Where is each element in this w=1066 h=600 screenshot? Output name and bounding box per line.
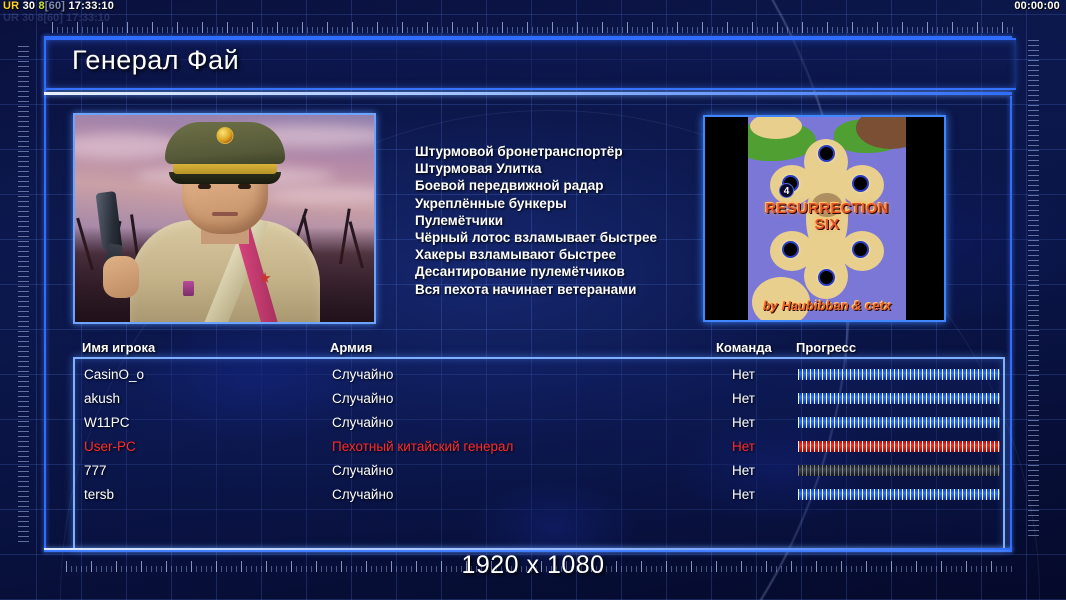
table-row[interactable]: W11PC Случайно Нет [75,411,1003,435]
player-name: CasinO_o [84,363,144,387]
resolution-underline [44,548,1012,550]
table-header-row: Имя игрока Армия Команда Прогресс [73,340,1003,358]
column-header-army: Армия [330,340,372,355]
player-name: 777 [84,459,107,483]
map-spawn-point [782,241,799,258]
player-army[interactable]: Случайно [332,483,393,507]
mouth [212,212,238,216]
status-timer: 00:00:00 [1014,0,1060,13]
ability-item: Боевой передвижной радар [415,177,657,194]
player-progress-bar [798,417,1000,428]
ability-item: Вся пехота начинает ветеранами [415,281,657,298]
table-row[interactable]: akush Случайно Нет [75,387,1003,411]
frame-left-edge [44,36,46,552]
map-preview[interactable]: 4 RESURRECTION SIX by Haubibban & cetx [703,115,946,322]
general-portrait [73,113,376,324]
map-title: RESURRECTION SIX [748,201,906,233]
eye-left [198,184,211,189]
player-name: tersb [84,483,114,507]
table-row-self[interactable]: User-PC Пехотный китайский генерал Нет [75,435,1003,459]
player-progress-bar [798,393,1000,404]
column-header-progress: Прогресс [796,340,856,355]
map-title-line2: SIX [748,217,906,233]
player-name: W11PC [84,411,130,435]
map-author: by Haubibban & cetx [748,298,906,313]
player-progress-bar [798,465,1000,476]
ability-item: Штурмовой бронетранспортёр [415,143,657,160]
player-army[interactable]: Случайно [332,387,393,411]
status-left-group: UR 30 8[60] 17:33:10 [3,0,114,13]
table-row[interactable]: 777 Случайно Нет [75,459,1003,483]
map-spawn-point [818,145,835,162]
general-medal [183,281,194,296]
ruler-left [18,46,29,546]
frame-right-edge [1010,96,1012,552]
status-bar: UR 30 8[60] 17:33:10 00:00:00 [0,0,1066,14]
ability-list: Штурмовой бронетранспортёр Штурмовая Ули… [415,143,657,298]
ability-item: Хакеры взламывают быстрее [415,246,657,263]
player-army[interactable]: Пехотный китайский генерал [332,435,513,459]
player-team[interactable]: Нет [732,435,755,459]
table-row[interactable]: tersb Случайно Нет [75,483,1003,507]
ability-item: Десантирование пулемётчиков [415,263,657,280]
ability-item: Штурмовая Улитка [415,160,657,177]
map-slot-number: 4 [779,183,794,198]
status-clock: 17:33:10 [68,0,114,12]
status-ur-value: 30 [23,0,36,12]
ruler-right [1028,40,1039,538]
player-army[interactable]: Случайно [332,363,393,387]
column-header-team: Команда [716,340,772,355]
table-row[interactable]: CasinO_o Случайно Нет [75,363,1003,387]
column-header-name: Имя игрока [82,340,155,355]
general-hand [103,256,139,298]
resolution-overlay: 1920 x 1080 [0,551,1066,580]
map-spawn-point [852,241,869,258]
status-ur-label: UR [3,0,19,12]
map-title-line1: RESURRECTION [748,201,906,217]
player-list-panel: CasinO_o Случайно Нет akush Случайно Нет… [73,357,1005,550]
eye-right [238,184,251,189]
player-progress-bar [798,489,1000,500]
ability-item: Укреплённые бункеры [415,195,657,212]
player-name: User-PC [84,435,136,459]
player-team[interactable]: Нет [732,363,755,387]
ability-item: Чёрный лотос взламывает быстрее [415,229,657,246]
player-name: akush [84,387,120,411]
player-team[interactable]: Нет [732,411,755,435]
player-team[interactable]: Нет [732,459,755,483]
ruler-top [52,22,1014,33]
player-progress-bar [798,441,1000,452]
player-team[interactable]: Нет [732,483,755,507]
status-fps-cap: [60] [45,0,65,12]
player-progress-bar [798,369,1000,380]
cap-badge-icon [216,127,233,144]
map-spawn-point [818,269,835,286]
title-underline [44,92,1012,95]
page-title: Генерал Фай [72,45,239,76]
player-army[interactable]: Случайно [332,459,393,483]
map-image: 4 RESURRECTION SIX by Haubibban & cetx [748,117,906,320]
ability-item: Пулемётчики [415,212,657,229]
map-spawn-point [852,175,869,192]
player-team[interactable]: Нет [732,387,755,411]
player-army[interactable]: Случайно [332,411,393,435]
